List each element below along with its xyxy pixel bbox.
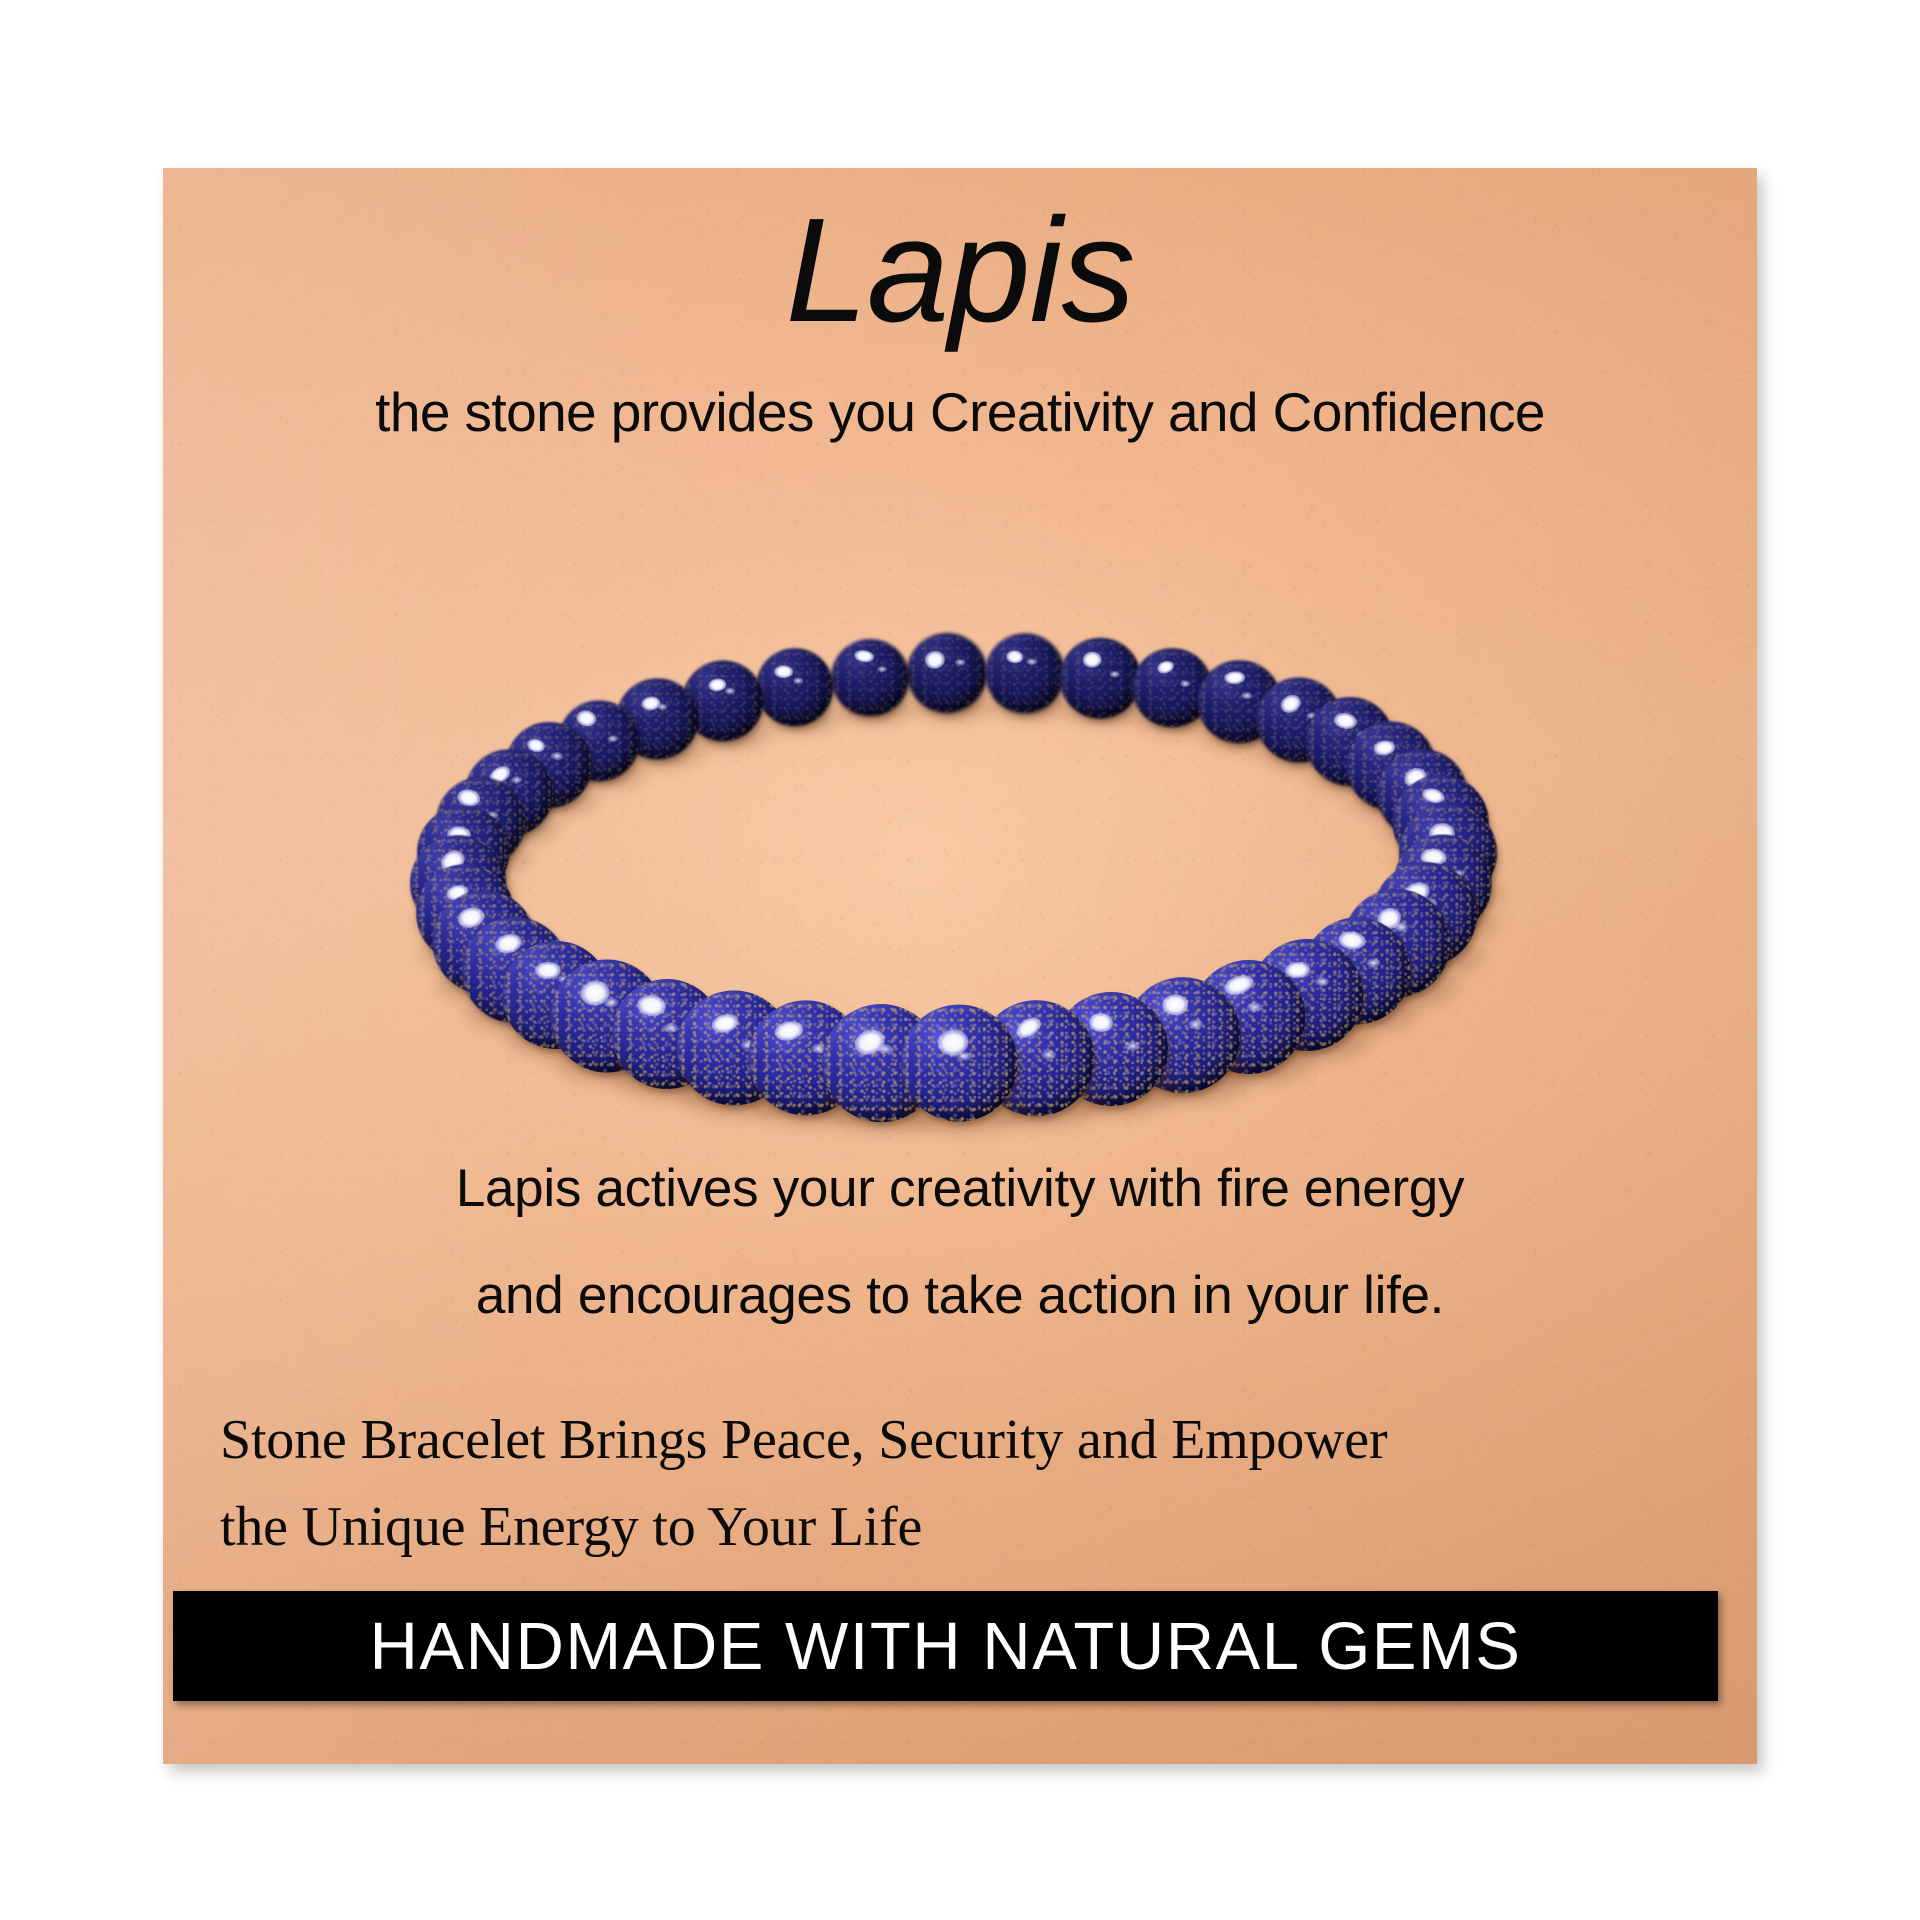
bead-secondary-highlight: [955, 659, 965, 666]
bracelet-bead: [436, 777, 525, 866]
bead-highlight: [854, 649, 875, 664]
bead-secondary-highlight: [463, 838, 475, 846]
bead-shadow: [750, 1080, 872, 1128]
bead-highlight: [437, 846, 469, 876]
bracelet-bead: [1343, 889, 1451, 997]
bracelet-bead: [502, 941, 610, 1049]
bracelet-bead: [1125, 977, 1241, 1093]
bead-surface: [1347, 722, 1436, 811]
bead-surface: [1256, 677, 1341, 762]
bead-shadow: [758, 702, 840, 735]
subtitle-tagline: the stone provides you Creativity and Co…: [163, 380, 1757, 444]
bead-pyrite-flecks: [462, 917, 568, 1023]
bead-shadow: [420, 870, 517, 909]
bead-shadow: [552, 1038, 672, 1085]
bracelet-bead: [433, 891, 536, 994]
bead-secondary-highlight: [1395, 754, 1407, 762]
bead-pyrite-flecks: [985, 633, 1064, 712]
bracelet-bead: [418, 806, 510, 898]
bracelet-bead: [748, 1000, 863, 1115]
bead-shadow: [1127, 1057, 1250, 1106]
bracelet-bead: [1133, 648, 1213, 728]
bead-shadow: [1200, 717, 1289, 752]
bracelet-bead: [416, 864, 514, 962]
bead-shadow: [614, 1055, 731, 1101]
bead-highlight: [851, 1025, 889, 1059]
bead-surface: [748, 1000, 863, 1115]
bead-shadow: [1193, 1039, 1314, 1087]
bead-pyrite-flecks: [1251, 939, 1363, 1051]
handmade-banner-label: HANDMADE WITH NATURAL GEMS: [370, 1613, 1522, 1680]
bead-pyrite-flecks: [683, 660, 764, 741]
bead-highlight: [1277, 691, 1304, 716]
bead-secondary-highlight: [657, 703, 668, 710]
bead-pyrite-flecks: [1303, 917, 1410, 1024]
bead-highlight: [1373, 739, 1397, 757]
bead-secondary-highlight: [486, 812, 498, 820]
bead-pyrite-flecks: [978, 1000, 1093, 1115]
bead-surface: [551, 960, 664, 1073]
bead-pyrite-flecks: [416, 864, 514, 962]
bead-secondary-highlight: [490, 924, 503, 933]
product-info-card: Lapis the stone provides you Creativity …: [163, 168, 1757, 1764]
bead-secondary-highlight: [1437, 813, 1450, 821]
bead-highlight: [486, 762, 513, 787]
bead-surface: [1343, 889, 1451, 997]
bead-pyrite-flecks: [617, 678, 698, 759]
bead-surface: [1377, 749, 1467, 839]
bead-secondary-highlight: [511, 776, 522, 783]
bracelet-bead: [1399, 804, 1497, 902]
bead-shadow: [980, 1080, 1102, 1128]
bead-highlight: [575, 709, 597, 729]
bead-shadow: [1379, 811, 1474, 849]
bead-shadow: [1063, 693, 1148, 727]
bead-shadow: [1344, 964, 1458, 1009]
bead-highlight: [526, 737, 547, 754]
bead-shadow: [1349, 783, 1443, 820]
bead-surface: [907, 633, 987, 713]
bead-highlight: [1221, 972, 1255, 999]
bead-secondary-highlight: [1456, 839, 1469, 847]
bead-pyrite-flecks: [822, 1004, 940, 1122]
bead-surface: [900, 1005, 1017, 1122]
bracelet-bead: [978, 1000, 1093, 1115]
bead-highlight: [710, 1012, 741, 1037]
bead-highlight: [1223, 671, 1245, 685]
bead-highlight: [1332, 711, 1357, 730]
bead-highlight: [708, 677, 727, 692]
bead-shadow: [1395, 903, 1500, 945]
bead-secondary-highlight: [1367, 958, 1381, 967]
bead-secondary-highlight: [1394, 923, 1408, 932]
bead-secondary-highlight: [877, 666, 887, 673]
bead-highlight: [773, 1018, 805, 1042]
benefit-statement-line-1: Stone Bracelet Brings Peace, Security an…: [220, 1408, 1387, 1472]
bead-shadow: [834, 693, 916, 726]
bead-pyrite-flecks: [551, 960, 664, 1073]
bead-pyrite-flecks: [1060, 638, 1141, 719]
bead-surface: [1393, 834, 1492, 933]
bead-highlight: [640, 695, 661, 711]
bead-secondary-highlight: [725, 687, 736, 694]
bead-pyrite-flecks: [1393, 834, 1492, 933]
bead-surface: [676, 991, 791, 1106]
bead-surface: [418, 806, 510, 898]
bead-pyrite-flecks: [418, 806, 510, 898]
bead-secondary-highlight: [664, 1023, 678, 1032]
bead-pyrite-flecks: [831, 639, 909, 717]
bead-surface: [1054, 992, 1168, 1106]
bead-surface: [978, 1000, 1093, 1115]
bead-secondary-highlight: [607, 735, 618, 742]
bead-secondary-highlight: [957, 1051, 972, 1061]
bead-shadow: [561, 756, 647, 790]
bracelet-bead: [756, 648, 834, 726]
bead-surface: [1125, 977, 1241, 1093]
description-line-1: Lapis actives your creativity with fire …: [163, 1158, 1757, 1219]
bead-shadow: [1259, 736, 1349, 772]
bead-surface: [1399, 804, 1497, 902]
bead-secondary-highlight: [469, 869, 481, 877]
bracelet-bead: [1256, 677, 1341, 762]
bead-secondary-highlight: [1189, 1020, 1204, 1030]
bead-surface: [1373, 862, 1477, 966]
bead-surface: [1133, 648, 1213, 728]
bead-secondary-highlight: [1027, 658, 1037, 665]
bead-surface: [1192, 960, 1306, 1074]
bead-shadow: [824, 1085, 949, 1134]
bead-pyrite-flecks: [1377, 749, 1467, 839]
bead-pyrite-flecks: [907, 633, 987, 713]
bead-shadow: [1395, 841, 1497, 881]
bead-surface: [416, 864, 514, 962]
bead-shadow: [504, 1015, 619, 1060]
bead-secondary-highlight: [741, 1040, 756, 1050]
bracelet-bead: [1393, 834, 1492, 933]
bead-surface: [462, 917, 568, 1023]
bead-highlight: [774, 666, 793, 679]
bead-shadow: [1375, 934, 1485, 978]
bead-highlight: [1013, 1013, 1045, 1042]
bracelet-bead: [462, 917, 568, 1023]
bead-surface: [558, 700, 639, 781]
bead-shadow: [435, 962, 544, 1005]
bead-pyrite-flecks: [1399, 804, 1497, 902]
bead-shadow: [1401, 872, 1505, 913]
bead-secondary-highlight: [473, 902, 486, 910]
bead-shadow: [1305, 991, 1419, 1036]
bead-shadow: [468, 809, 561, 846]
bead-surface: [985, 633, 1064, 712]
bracelet-bead: [1377, 749, 1467, 839]
bead-shadow: [1253, 1017, 1372, 1064]
bead-pyrite-flecks: [1343, 889, 1451, 997]
bead-shadow: [619, 734, 705, 768]
bracelet-bead: [683, 660, 764, 741]
bead-surface: [831, 639, 909, 717]
bead-pyrite-flecks: [756, 648, 834, 726]
bead-surface: [466, 749, 553, 836]
bead-pyrite-flecks: [1347, 722, 1436, 811]
bead-shadow: [910, 688, 995, 722]
bead-highlight: [1082, 651, 1102, 669]
bead-pyrite-flecks: [502, 941, 610, 1049]
bead-shadow: [902, 1085, 1026, 1134]
bead-secondary-highlight: [1241, 692, 1252, 699]
bead-secondary-highlight: [812, 1044, 827, 1054]
bead-secondary-highlight: [1315, 977, 1330, 987]
bracelet-bead: [1303, 917, 1410, 1024]
page-title: Lapis: [163, 188, 1757, 354]
bead-pyrite-flecks: [410, 835, 506, 931]
bead-shadow: [1135, 703, 1220, 736]
bracelet-bead: [1306, 697, 1394, 785]
bracelet-bead: [410, 835, 506, 931]
bead-surface: [1251, 939, 1363, 1051]
bead-secondary-highlight: [558, 975, 572, 984]
bead-highlight: [1285, 961, 1312, 979]
bracelet-bead: [831, 639, 909, 717]
bead-secondary-highlight: [603, 998, 618, 1008]
bead-surface: [506, 722, 592, 808]
bead-shadow: [685, 716, 771, 750]
bead-surface: [1393, 775, 1489, 871]
bead-surface: [433, 891, 536, 994]
bracelet-bead: [1373, 862, 1477, 966]
bead-shadow: [678, 1070, 800, 1118]
bead-highlight: [1402, 765, 1430, 790]
bracelet-bead: [1347, 722, 1436, 811]
bead-pyrite-flecks: [433, 891, 536, 994]
bead-secondary-highlight: [1109, 670, 1119, 677]
bead-pyrite-flecks: [436, 777, 525, 866]
bead-surface: [1060, 638, 1141, 719]
bead-highlight: [1005, 649, 1023, 663]
bead-surface: [1303, 917, 1410, 1024]
bracelet-bead: [1060, 638, 1141, 719]
bead-secondary-highlight: [1430, 777, 1442, 785]
bead-pyrite-flecks: [1192, 960, 1306, 1074]
bead-secondary-highlight: [515, 960, 529, 969]
bead-shadow: [438, 839, 533, 877]
bead-secondary-highlight: [551, 752, 562, 759]
bead-pyrite-flecks: [506, 722, 592, 808]
bead-pyrite-flecks: [1133, 648, 1213, 728]
bead-pyrite-flecks: [612, 979, 722, 1089]
bead-surface: [1306, 697, 1394, 785]
bead-surface: [617, 678, 698, 759]
bracelet-bead: [1393, 775, 1489, 871]
bead-highlight: [1374, 904, 1405, 933]
bead-highlight: [1337, 930, 1366, 951]
bead-pyrite-flecks: [748, 1000, 863, 1115]
bead-surface: [1197, 660, 1281, 744]
bead-highlight: [1429, 823, 1455, 845]
bead-pyrite-flecks: [1054, 992, 1168, 1106]
bead-secondary-highlight: [1042, 1050, 1057, 1060]
bracelet-bead: [612, 979, 722, 1089]
bead-surface: [612, 979, 722, 1089]
bead-highlight: [535, 962, 561, 979]
bead-surface: [683, 660, 764, 741]
bead-shadow: [509, 782, 600, 818]
handmade-banner: HANDMADE WITH NATURAL GEMS: [173, 1591, 1718, 1701]
bead-secondary-highlight: [1357, 731, 1368, 738]
bead-pyrite-flecks: [1197, 660, 1281, 744]
bracelet-bead: [558, 700, 639, 781]
bead-highlight: [1088, 1012, 1113, 1032]
bead-pyrite-flecks: [1125, 977, 1241, 1093]
bead-pyrite-flecks: [558, 700, 639, 781]
bead-pyrite-flecks: [1306, 697, 1394, 785]
bead-highlight: [456, 787, 482, 807]
bead-surface: [502, 941, 610, 1049]
bracelet-bead: [907, 633, 987, 713]
bracelet-bead: [900, 1005, 1017, 1122]
bead-highlight: [936, 1027, 970, 1057]
bead-pyrite-flecks: [466, 749, 553, 836]
bead-surface: [822, 1004, 940, 1122]
bead-highlight: [1156, 659, 1176, 676]
bracelet-bead: [676, 991, 791, 1106]
bracelet-bead: [617, 678, 698, 759]
bead-highlight: [1162, 994, 1189, 1016]
bracelet-bead: [1251, 939, 1363, 1051]
bracelet-bead: [1197, 660, 1281, 744]
bead-pyrite-flecks: [1393, 775, 1489, 871]
bracelet-bead: [506, 722, 592, 808]
bead-pyrite-flecks: [676, 991, 791, 1106]
bead-highlight: [636, 993, 667, 1017]
bead-pyrite-flecks: [1373, 862, 1477, 966]
description-line-2: and encourages to take action in your li…: [163, 1265, 1757, 1326]
bead-pyrite-flecks: [900, 1005, 1017, 1122]
bead-shadow: [412, 901, 513, 941]
bead-shadow: [464, 990, 576, 1034]
bracelet-bead: [822, 1004, 940, 1122]
bead-highlight: [1420, 848, 1447, 866]
bead-secondary-highlight: [878, 1044, 893, 1054]
bracelet-bead: [551, 960, 664, 1073]
bead-surface: [436, 777, 525, 866]
bead-highlight: [578, 978, 611, 1008]
bead-highlight: [924, 649, 947, 670]
bead-secondary-highlight: [1306, 712, 1317, 719]
bead-highlight: [445, 883, 470, 904]
bead-highlight: [1420, 786, 1446, 805]
bead-secondary-highlight: [1247, 1002, 1262, 1012]
bead-secondary-highlight: [1125, 1041, 1140, 1051]
bead-shadow: [1056, 1070, 1177, 1118]
bead-secondary-highlight: [1423, 898, 1436, 907]
bracelet-bead: [985, 633, 1064, 712]
bracelet-bead: [466, 749, 553, 836]
bead-surface: [410, 835, 506, 931]
bead-highlight: [493, 932, 523, 957]
bead-surface: [756, 648, 834, 726]
bead-shadow: [419, 932, 522, 973]
bead-secondary-highlight: [1180, 681, 1190, 688]
bracelet-bead: [1192, 960, 1306, 1074]
bead-shadow: [1308, 758, 1401, 795]
bead-highlight: [446, 825, 471, 844]
bead-secondary-highlight: [1451, 869, 1464, 877]
bead-shadow: [988, 688, 1072, 721]
bead-secondary-highlight: [794, 677, 804, 684]
bead-highlight: [455, 904, 487, 931]
bead-highlight: [1399, 878, 1432, 907]
bracelet-bead: [1054, 992, 1168, 1106]
bead-pyrite-flecks: [1256, 677, 1341, 762]
benefit-statement-line-2: the Unique Energy to Your Life: [220, 1495, 922, 1559]
